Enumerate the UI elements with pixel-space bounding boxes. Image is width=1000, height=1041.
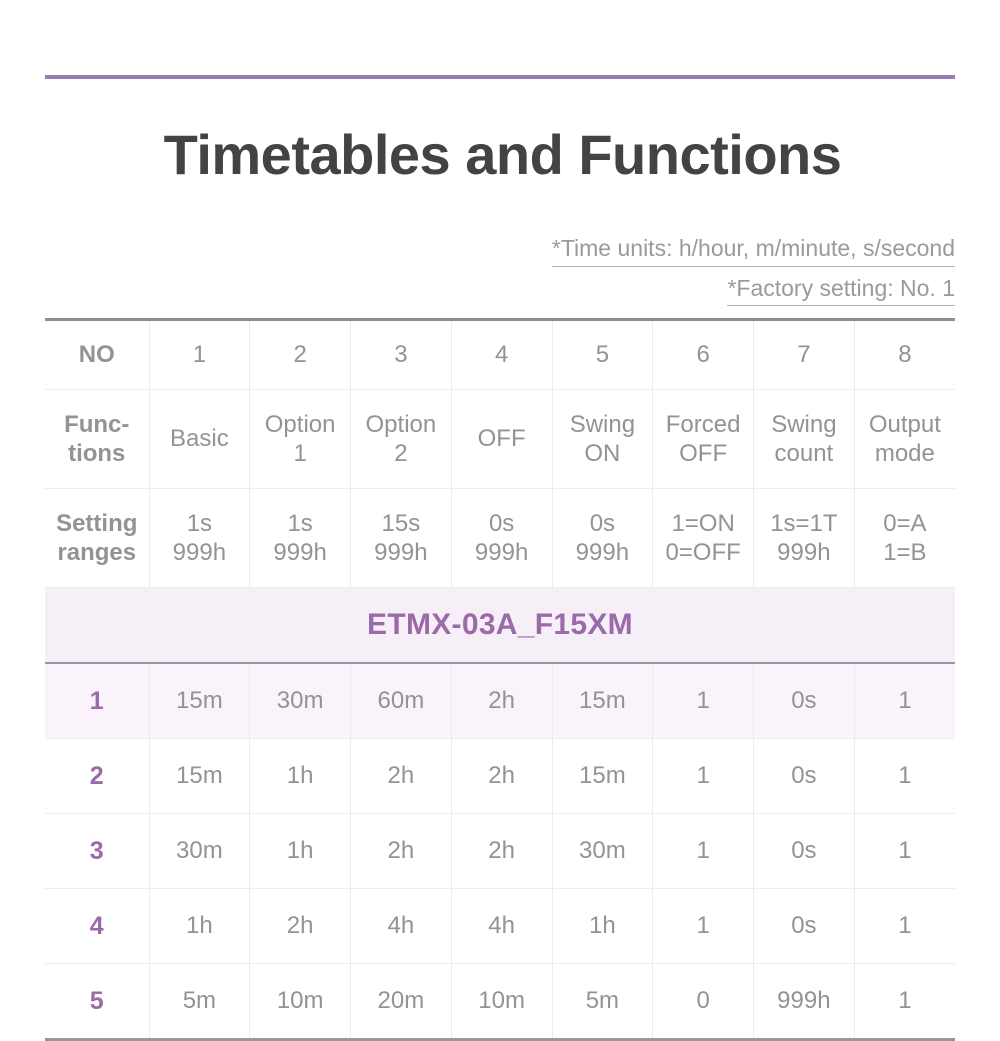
column-number-1: 1 — [149, 320, 250, 390]
setting-range-cell-5: 0s 999h — [552, 489, 653, 588]
function-cell-2-line1: Option — [252, 410, 348, 439]
setting-range-cell-4-line2: 999h — [454, 538, 550, 567]
cell-1: 5m — [149, 964, 250, 1040]
cell-4: 4h — [451, 889, 552, 964]
setting-range-cell-3: 15s 999h — [351, 489, 452, 588]
table-header-row-functions: Func- tions Basic Option 1 Option 2 — [45, 390, 955, 489]
setting-range-cell-8-line2: 1=B — [857, 538, 953, 567]
column-number-8: 8 — [854, 320, 955, 390]
cell-2: 10m — [250, 964, 351, 1040]
header-label-functions-line2: tions — [47, 439, 147, 468]
function-cell-5-line1: Swing — [555, 410, 651, 439]
cell-5: 5m — [552, 964, 653, 1040]
function-cell-8-line1: Output — [857, 410, 953, 439]
cell-3: 2h — [351, 814, 452, 889]
setting-range-cell-8-line1: 0=A — [857, 509, 953, 538]
cell-1: 1h — [149, 889, 250, 964]
cell-2: 30m — [250, 663, 351, 739]
note-time-units: *Time units: h/hour, m/minute, s/second — [552, 232, 955, 267]
cell-2: 1h — [250, 814, 351, 889]
cell-5: 15m — [552, 739, 653, 814]
function-cell-6-line2: OFF — [655, 439, 751, 468]
setting-range-cell-3-line1: 15s — [353, 509, 449, 538]
table-header-row-no: NO 1 2 3 4 5 6 7 8 — [45, 320, 955, 390]
table-row: 5 5m 10m 20m 10m 5m 0 999h 1 — [45, 964, 955, 1040]
setting-range-cell-7: 1s=1T 999h — [754, 489, 855, 588]
function-cell-7-line1: Swing — [756, 410, 852, 439]
setting-range-cell-4-line1: 0s — [454, 509, 550, 538]
function-cell-5: Swing ON — [552, 390, 653, 489]
table-row: 2 15m 1h 2h 2h 15m 1 0s 1 — [45, 739, 955, 814]
timetable-wrap: NO 1 2 3 4 5 6 7 8 Func- tions B — [45, 318, 955, 1041]
cell-1: 15m — [149, 663, 250, 739]
cell-2: 1h — [250, 739, 351, 814]
header-label-setting-ranges: Setting ranges — [45, 489, 149, 588]
note-factory-setting: *Factory setting: No. 1 — [727, 272, 955, 307]
cell-8: 1 — [854, 889, 955, 964]
setting-range-cell-2-line2: 999h — [252, 538, 348, 567]
cell-7: 0s — [754, 663, 855, 739]
cell-6: 1 — [653, 739, 754, 814]
header-label-setting-ranges-line2: ranges — [47, 538, 147, 567]
cell-5: 15m — [552, 663, 653, 739]
column-number-3: 3 — [351, 320, 452, 390]
function-cell-1-line1: Basic — [152, 424, 248, 453]
page-title: Timetables and Functions — [50, 126, 955, 185]
function-cell-6-line1: Forced — [655, 410, 751, 439]
row-index: 4 — [45, 889, 149, 964]
function-cell-4-line1: OFF — [454, 424, 550, 453]
model-band-row: ETMX-03A_F15XM — [45, 588, 955, 664]
cell-7: 0s — [754, 814, 855, 889]
setting-range-cell-8: 0=A 1=B — [854, 489, 955, 588]
timetable: NO 1 2 3 4 5 6 7 8 Func- tions B — [45, 318, 955, 1041]
cell-6: 1 — [653, 889, 754, 964]
cell-4: 10m — [451, 964, 552, 1040]
function-cell-3-line1: Option — [353, 410, 449, 439]
function-cell-3-line2: 2 — [353, 439, 449, 468]
cell-5: 30m — [552, 814, 653, 889]
function-cell-3: Option 2 — [351, 390, 452, 489]
cell-7: 999h — [754, 964, 855, 1040]
column-number-7: 7 — [754, 320, 855, 390]
table-row: 4 1h 2h 4h 4h 1h 1 0s 1 — [45, 889, 955, 964]
cell-3: 60m — [351, 663, 452, 739]
note-row-0: *Time units: h/hour, m/minute, s/second — [552, 232, 955, 267]
function-cell-2: Option 1 — [250, 390, 351, 489]
column-number-5: 5 — [552, 320, 653, 390]
table-row: 3 30m 1h 2h 2h 30m 1 0s 1 — [45, 814, 955, 889]
header-label-functions-line1: Func- — [47, 410, 147, 439]
setting-range-cell-1-line1: 1s — [152, 509, 248, 538]
function-cell-7-line2: count — [756, 439, 852, 468]
row-index: 2 — [45, 739, 149, 814]
setting-range-cell-1: 1s 999h — [149, 489, 250, 588]
cell-6: 1 — [653, 663, 754, 739]
note-row-1: *Factory setting: No. 1 — [552, 272, 955, 307]
cell-3: 20m — [351, 964, 452, 1040]
top-accent-rule — [45, 75, 955, 79]
cell-1: 30m — [149, 814, 250, 889]
setting-range-cell-6-line1: 1=ON — [655, 509, 751, 538]
cell-8: 1 — [854, 663, 955, 739]
cell-7: 0s — [754, 739, 855, 814]
function-cell-1: Basic — [149, 390, 250, 489]
cell-1: 15m — [149, 739, 250, 814]
cell-3: 4h — [351, 889, 452, 964]
cell-5: 1h — [552, 889, 653, 964]
table-row: 1 15m 30m 60m 2h 15m 1 0s 1 — [45, 663, 955, 739]
cell-3: 2h — [351, 739, 452, 814]
setting-range-cell-5-line2: 999h — [555, 538, 651, 567]
header-label-functions: Func- tions — [45, 390, 149, 489]
cell-8: 1 — [854, 964, 955, 1040]
function-cell-6: Forced OFF — [653, 390, 754, 489]
cell-7: 0s — [754, 889, 855, 964]
row-index: 3 — [45, 814, 149, 889]
function-cell-4: OFF — [451, 390, 552, 489]
cell-4: 2h — [451, 739, 552, 814]
document-page: Timetables and Functions *Time units: h/… — [0, 0, 1000, 1000]
column-number-4: 4 — [451, 320, 552, 390]
header-label-setting-ranges-line1: Setting — [47, 509, 147, 538]
setting-range-cell-7-line1: 1s=1T — [756, 509, 852, 538]
setting-range-cell-1-line2: 999h — [152, 538, 248, 567]
function-cell-2-line2: 1 — [252, 439, 348, 468]
cell-8: 1 — [854, 814, 955, 889]
cell-2: 2h — [250, 889, 351, 964]
cell-8: 1 — [854, 739, 955, 814]
function-cell-5-line2: ON — [555, 439, 651, 468]
setting-range-cell-5-line1: 0s — [555, 509, 651, 538]
header-label-no: NO — [45, 320, 149, 390]
column-number-2: 2 — [250, 320, 351, 390]
function-cell-8: Output mode — [854, 390, 955, 489]
cell-6: 1 — [653, 814, 754, 889]
row-index: 5 — [45, 964, 149, 1040]
cell-4: 2h — [451, 814, 552, 889]
setting-range-cell-7-line2: 999h — [756, 538, 852, 567]
setting-range-cell-2-line1: 1s — [252, 509, 348, 538]
column-number-6: 6 — [653, 320, 754, 390]
function-cell-7: Swing count — [754, 390, 855, 489]
table-header-row-setting-ranges: Setting ranges 1s 999h 1s 999h 15s 999h — [45, 489, 955, 588]
setting-range-cell-6: 1=ON 0=OFF — [653, 489, 754, 588]
setting-range-cell-6-line2: 0=OFF — [655, 538, 751, 567]
function-cell-8-line2: mode — [857, 439, 953, 468]
notes-block: *Time units: h/hour, m/minute, s/second … — [552, 232, 955, 311]
setting-range-cell-2: 1s 999h — [250, 489, 351, 588]
setting-range-cell-3-line2: 999h — [353, 538, 449, 567]
row-index: 1 — [45, 663, 149, 739]
model-name: ETMX-03A_F15XM — [45, 588, 955, 664]
setting-range-cell-4: 0s 999h — [451, 489, 552, 588]
cell-4: 2h — [451, 663, 552, 739]
cell-6: 0 — [653, 964, 754, 1040]
